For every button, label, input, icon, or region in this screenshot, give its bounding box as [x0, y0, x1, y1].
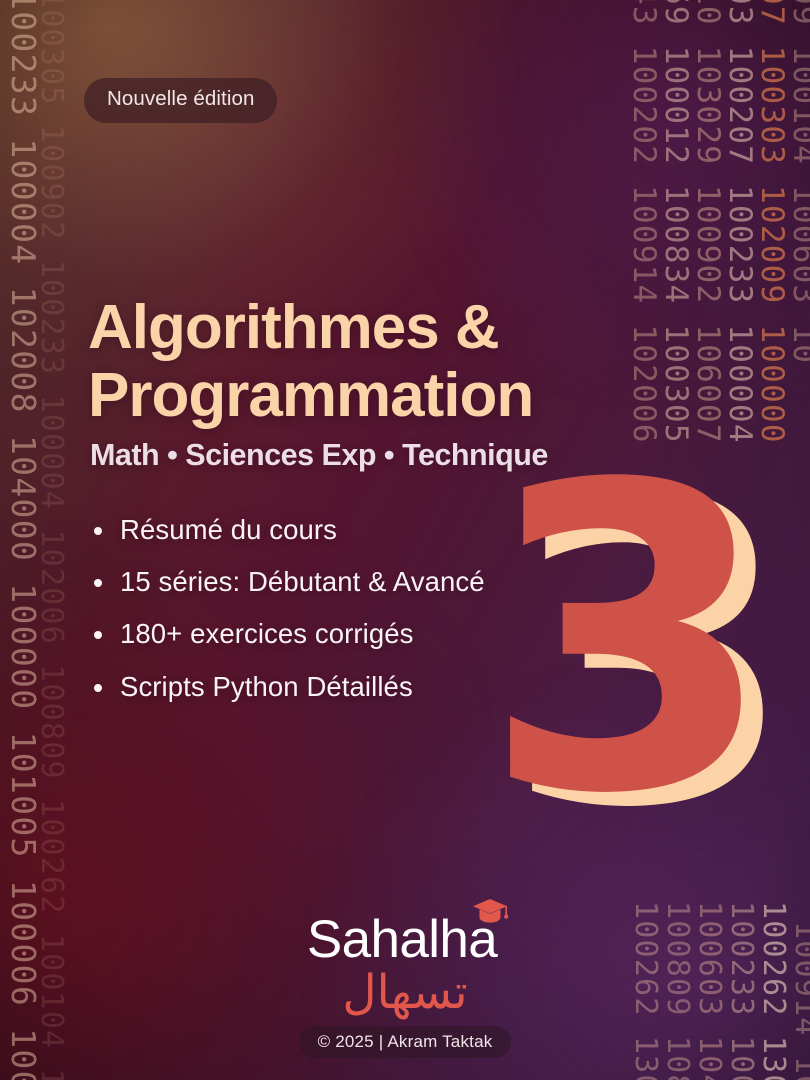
- level-number: 3: [482, 432, 764, 852]
- copyright-notice: © 2025 | Akram Taktak: [299, 1026, 512, 1058]
- brand-logo: Sahalha تسهال: [307, 913, 503, 1019]
- brand-name-arabic: تسهال: [307, 967, 503, 1019]
- title-line-2: Programmation: [88, 361, 533, 430]
- graduation-cap-icon: [471, 897, 509, 927]
- level-number-badge: 3 3: [482, 432, 782, 862]
- new-edition-badge: Nouvelle édition: [84, 78, 277, 123]
- brand-footer: Sahalha تسهال © 2025 | Akram Taktak: [0, 913, 810, 1058]
- title-line-1: Algorithmes &: [88, 293, 499, 362]
- book-cover: 100233 100004 102008 104000 100000 10100…: [0, 0, 810, 1080]
